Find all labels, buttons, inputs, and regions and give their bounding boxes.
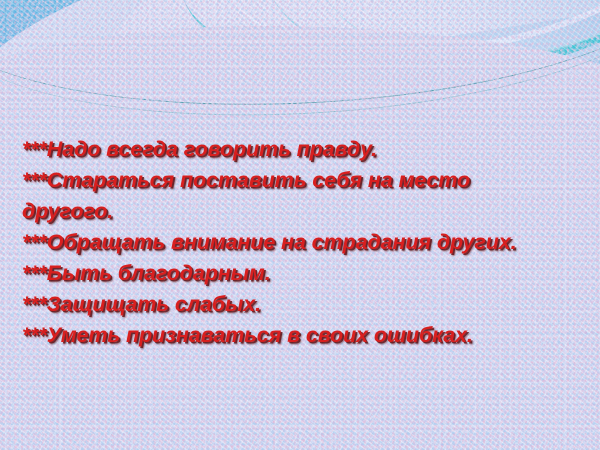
slide-text-line: ***Стараться поставить себя на место — [22, 165, 582, 196]
slide-text-line: ***Обращать внимание на страдания других… — [22, 227, 582, 258]
slide-text-line: ***Быть благодарным. — [22, 258, 582, 289]
slide-text-line: ***Уметь признаваться в своих ошибках. — [22, 320, 582, 351]
slide-text-line: другого. — [22, 196, 582, 227]
slide-text-line: ***Защищать слабых. — [22, 289, 582, 320]
slide-text-line: ***Надо всегда говорить правду. — [22, 134, 582, 165]
presentation-slide: ***Надо всегда говорить правду. ***Стара… — [0, 0, 600, 450]
slide-text-block: ***Надо всегда говорить правду. ***Стара… — [22, 134, 582, 351]
